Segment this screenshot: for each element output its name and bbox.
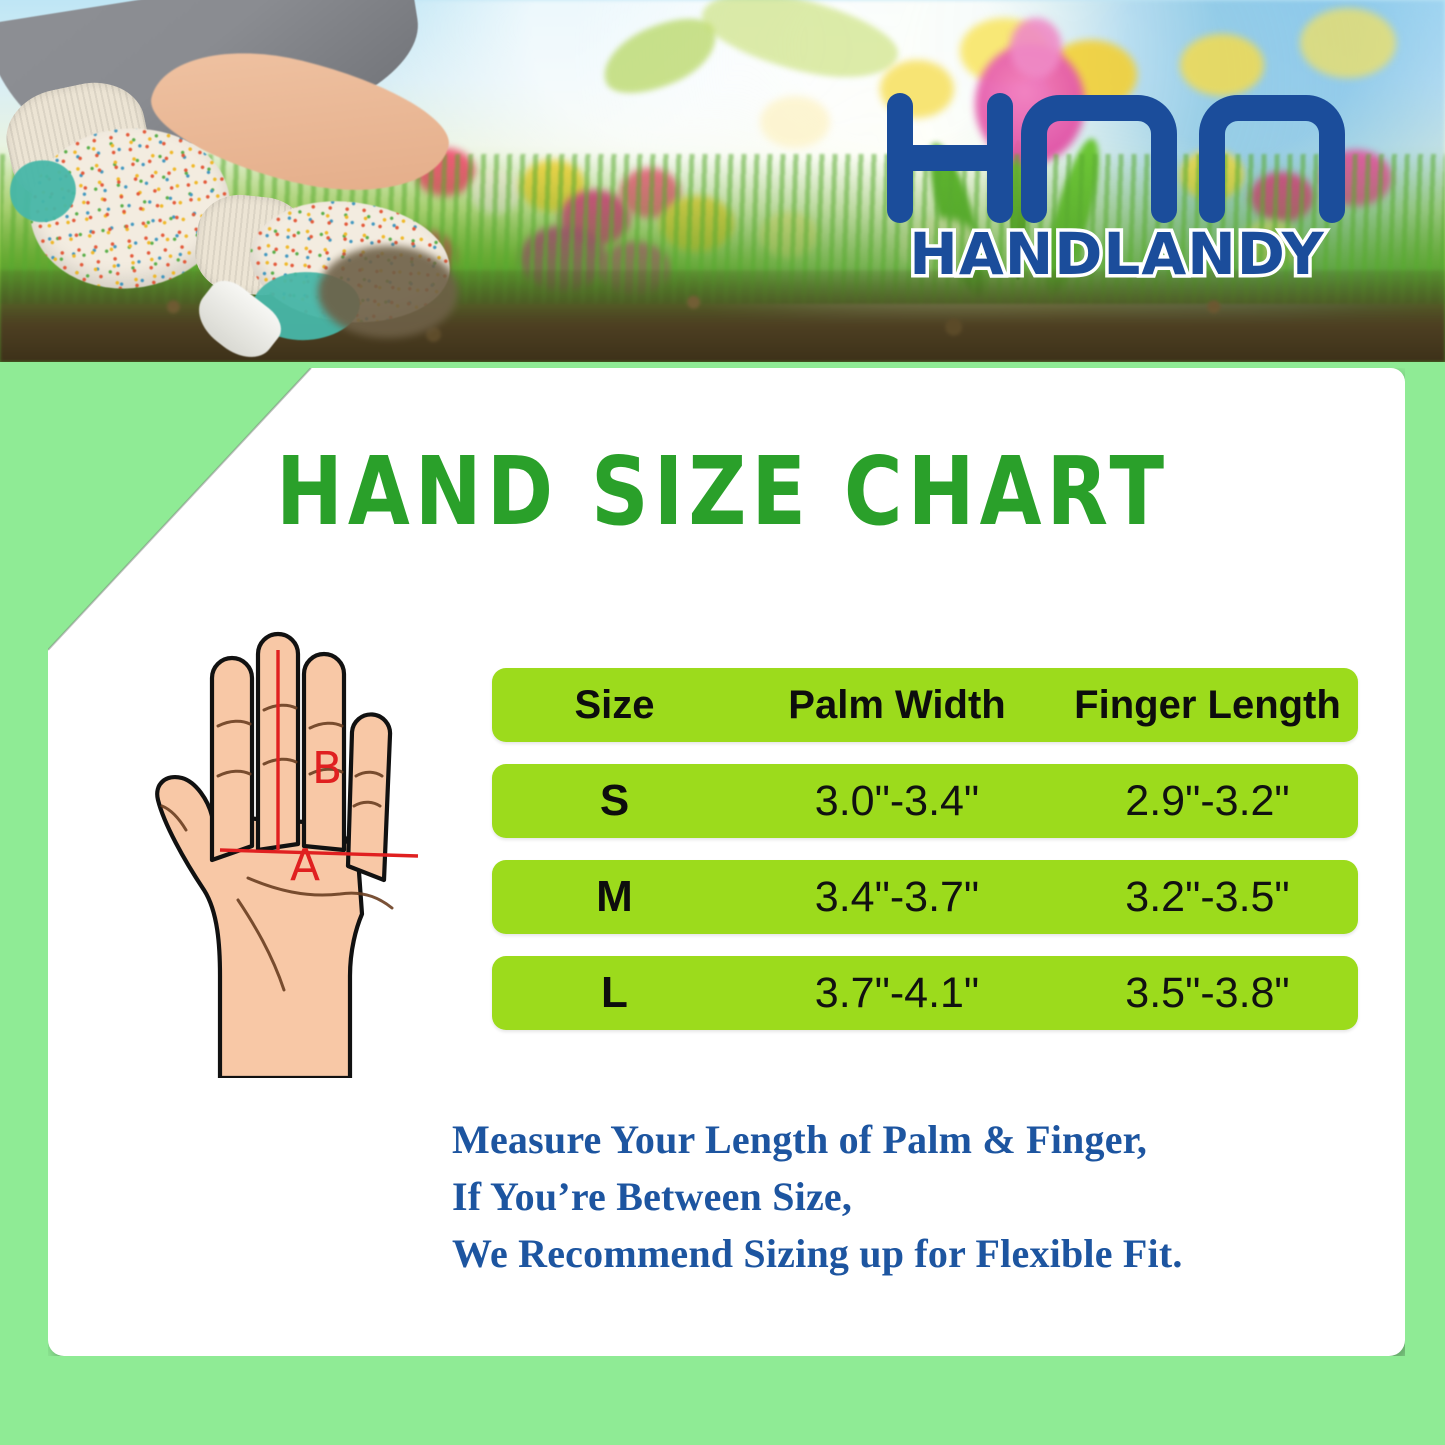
table-row: L 3.7"-4.1" 3.5"-3.8" xyxy=(492,956,1358,1030)
hand-measurement-diagram: B A xyxy=(100,628,470,1078)
cell-finger-length: 2.9"-3.2" xyxy=(1057,777,1358,826)
table-row: M 3.4"-3.7" 3.2"-3.5" xyxy=(492,860,1358,934)
header-palm-width: Palm Width xyxy=(737,683,1057,728)
cell-palm-width: 3.0"-3.4" xyxy=(737,777,1057,826)
flower-blob xyxy=(760,96,830,148)
hero-photo-banner: HANDLANDY xyxy=(0,0,1445,362)
cell-finger-length: 3.5"-3.8" xyxy=(1057,969,1358,1018)
table-header-row: Size Palm Width Finger Length xyxy=(492,668,1358,742)
cell-palm-width: 3.4"-3.7" xyxy=(737,873,1057,922)
hyacinth-flower xyxy=(1010,18,1062,78)
cell-palm-width: 3.7"-4.1" xyxy=(737,969,1057,1018)
note-line-2: If You’re Between Size, xyxy=(452,1169,1352,1226)
flower-blob xyxy=(1300,8,1396,78)
brand-logo: HANDLANDY xyxy=(882,92,1352,282)
header-size: Size xyxy=(492,683,737,728)
note-line-3: We Recommend Sizing up for Flexible Fit. xyxy=(452,1226,1352,1283)
flower-blob xyxy=(1180,34,1264,96)
palm-width-label: A xyxy=(290,840,320,891)
cell-size: L xyxy=(492,968,737,1018)
page-title: HAND SIZE CHART xyxy=(0,445,1445,539)
cell-size: M xyxy=(492,872,737,922)
cell-size: S xyxy=(492,776,737,826)
table-row: S 3.0"-3.4" 2.9"-3.2" xyxy=(492,764,1358,838)
sizing-advice-note: Measure Your Length of Palm & Finger, If… xyxy=(452,1112,1352,1282)
root-ball xyxy=(318,246,458,338)
note-line-1: Measure Your Length of Palm & Finger, xyxy=(452,1112,1352,1169)
cell-finger-length: 3.2"-3.5" xyxy=(1057,873,1358,922)
finger-length-label: B xyxy=(312,743,342,794)
page-root: HANDLANDY HAND SIZE CHART xyxy=(0,0,1445,1445)
brand-wordmark: HANDLANDY xyxy=(909,220,1324,282)
header-finger-length: Finger Length xyxy=(1057,683,1358,728)
size-chart-table: Size Palm Width Finger Length S 3.0"-3.4… xyxy=(492,668,1358,1030)
